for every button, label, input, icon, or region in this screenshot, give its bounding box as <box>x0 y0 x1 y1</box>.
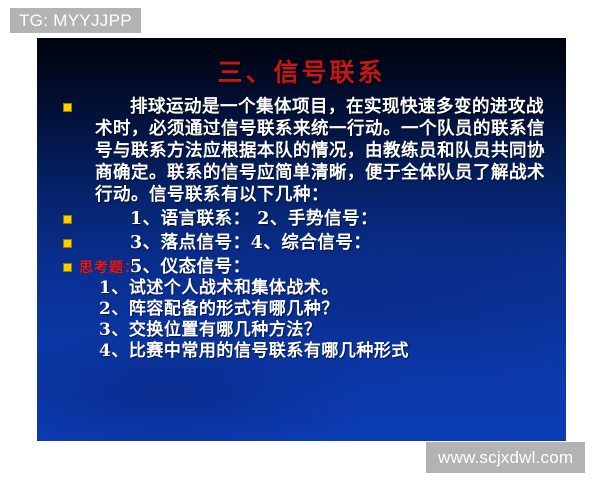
signal-item-2: 3、落点信号：4、综合信号： <box>55 232 555 254</box>
presentation-slide: 三、信号联系 排球运动是一个集体项目，在实现快速多变的进攻战术时，必须通过信号联… <box>37 38 566 441</box>
signal-item-text: 3、落点信号：4、综合信号： <box>95 232 555 254</box>
quiz-question: 1、试述个人战术和集体战术。 <box>77 278 547 299</box>
signal-item-1: 1、语言联系： 2、手势信号： <box>55 208 555 230</box>
page-canvas: 三、信号联系 排球运动是一个集体项目，在实现快速多变的进攻战术时，必须通过信号联… <box>0 0 600 480</box>
quiz-question: 4、比赛中常用的信号联系有哪几种形式 <box>77 341 547 362</box>
site-watermark: www.scjxdwl.com <box>426 442 585 473</box>
square-bullet-icon <box>63 103 72 112</box>
signal-item-text: 1、语言联系： 2、手势信号： <box>95 208 555 230</box>
slide-title: 三、信号联系 <box>37 53 566 89</box>
quiz-question: 2、阵容配备的形式有哪几种？ <box>77 299 547 320</box>
tag-watermark: TG: MYYJJPP <box>10 8 141 33</box>
square-bullet-icon <box>63 215 72 224</box>
square-bullet-icon <box>63 239 72 248</box>
quiz-question-list: 1、试述个人战术和集体战术。 2、阵容配备的形式有哪几种？ 3、交换位置有哪几种… <box>77 278 547 362</box>
square-bullet-icon <box>63 263 72 272</box>
quiz-heading: 思考题： <box>79 260 547 276</box>
body-paragraph-text: 排球运动是一个集体项目，在实现快速多变的进攻战术时，必须通过信号联系来统一行动。… <box>95 96 555 206</box>
slide-body: 排球运动是一个集体项目，在实现快速多变的进攻战术时，必须通过信号联系来统一行动。… <box>55 96 555 278</box>
body-paragraph-row: 排球运动是一个集体项目，在实现快速多变的进攻战术时，必须通过信号联系来统一行动。… <box>55 96 555 206</box>
quiz-section: 思考题： 1、试述个人战术和集体战术。 2、阵容配备的形式有哪几种？ 3、交换位… <box>77 260 547 362</box>
quiz-question: 3、交换位置有哪几种方法？ <box>77 320 547 341</box>
